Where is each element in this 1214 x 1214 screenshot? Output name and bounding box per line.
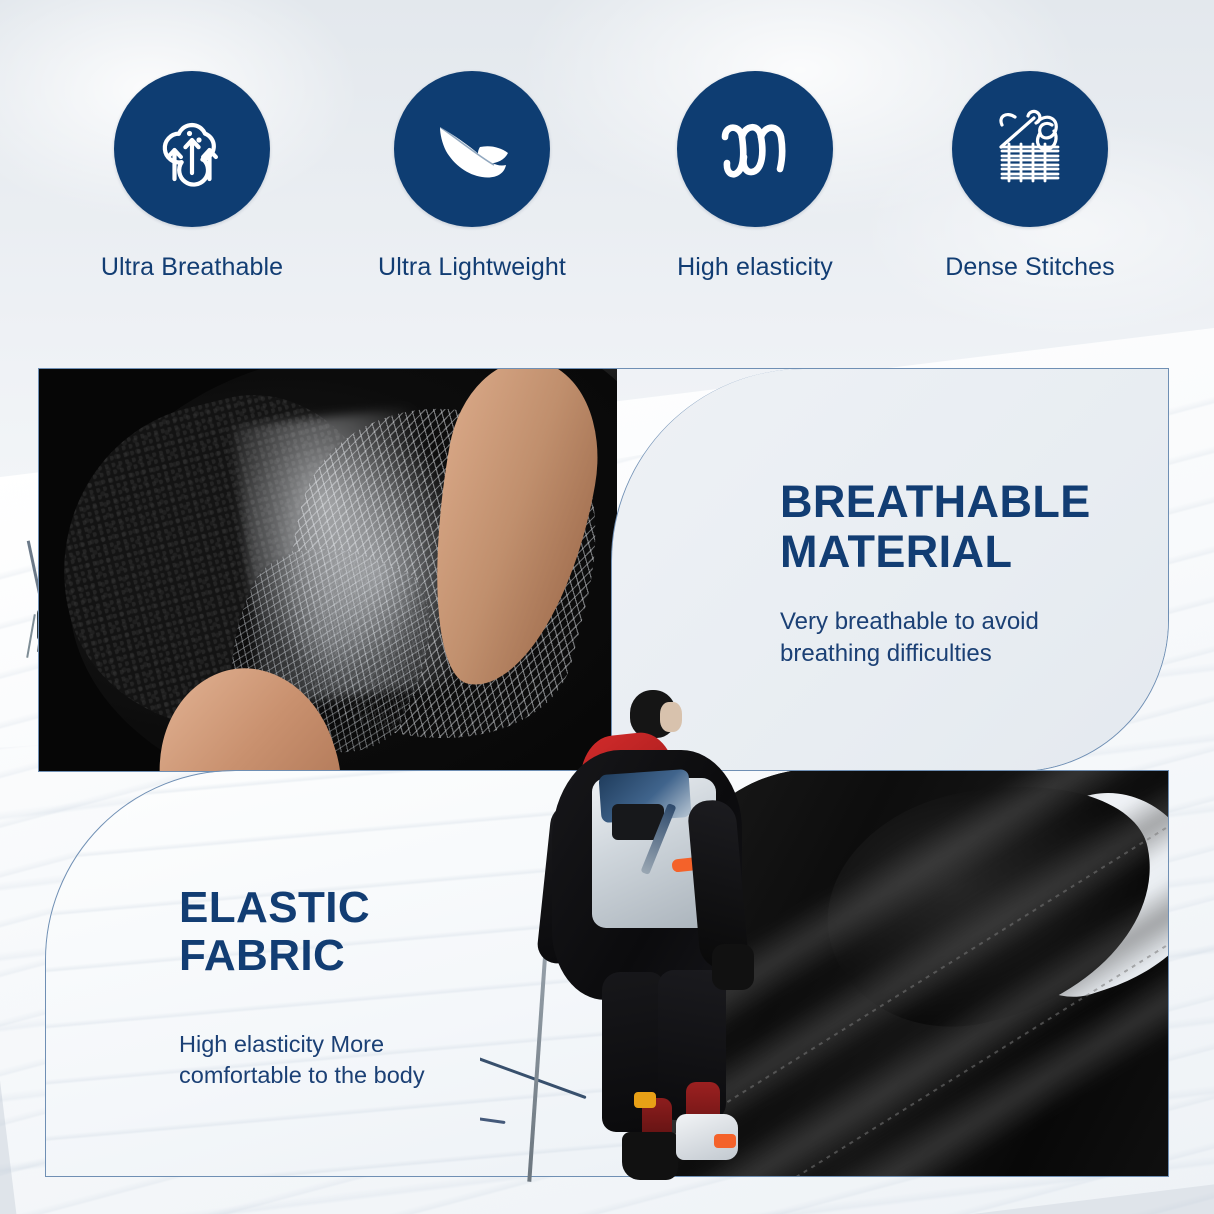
feature-ultra-breathable[interactable]: Ultra Breathable [114,71,270,282]
card-body-line2: breathing difficulties [780,640,992,667]
feature-label: Ultra Lightweight [362,253,582,282]
mountaineer-photo [480,660,800,1214]
feature-dense-stitches[interactable]: Dense Stitches [952,71,1108,282]
feather-icon [394,71,550,227]
feature-ultra-lightweight[interactable]: Ultra Lightweight [394,71,550,282]
needle-and-woven-stitches-icon [952,71,1108,227]
card-title-line2: MATERIAL [780,526,1012,577]
mountaineer-with-backpack [526,682,756,1202]
trekking-pole [527,932,548,1182]
breath-vapor [233,405,471,705]
card-title-line2: FABRIC [179,931,345,980]
infographic-page: Ultra Breathable Ultra Lightweight [0,0,1214,1214]
mountaineering-boot [622,1132,678,1180]
card-title-line1: ELASTIC [179,883,370,932]
feature-label: Dense Stitches [936,253,1124,282]
card-title-line1: BREATHABLE [780,476,1091,527]
feature-label: Ultra Breathable [74,253,310,282]
card-body: Very breathable to avoid breathing diffi… [780,606,1150,669]
card-body-line2: comfortable to the body [179,1062,425,1088]
card-body-line1: Very breathable to avoid [780,608,1039,635]
elastic-thread-squiggle-icon [677,71,833,227]
card-title: BREATHABLE MATERIAL [780,477,1150,576]
breathable-cotton-arrows-icon [114,71,270,227]
feature-high-elasticity[interactable]: High elasticity [677,71,833,282]
card-body-line1: High elasticity More [179,1031,384,1057]
feature-icon-row: Ultra Breathable Ultra Lightweight [0,0,1214,330]
feature-label: High elasticity [657,253,853,282]
